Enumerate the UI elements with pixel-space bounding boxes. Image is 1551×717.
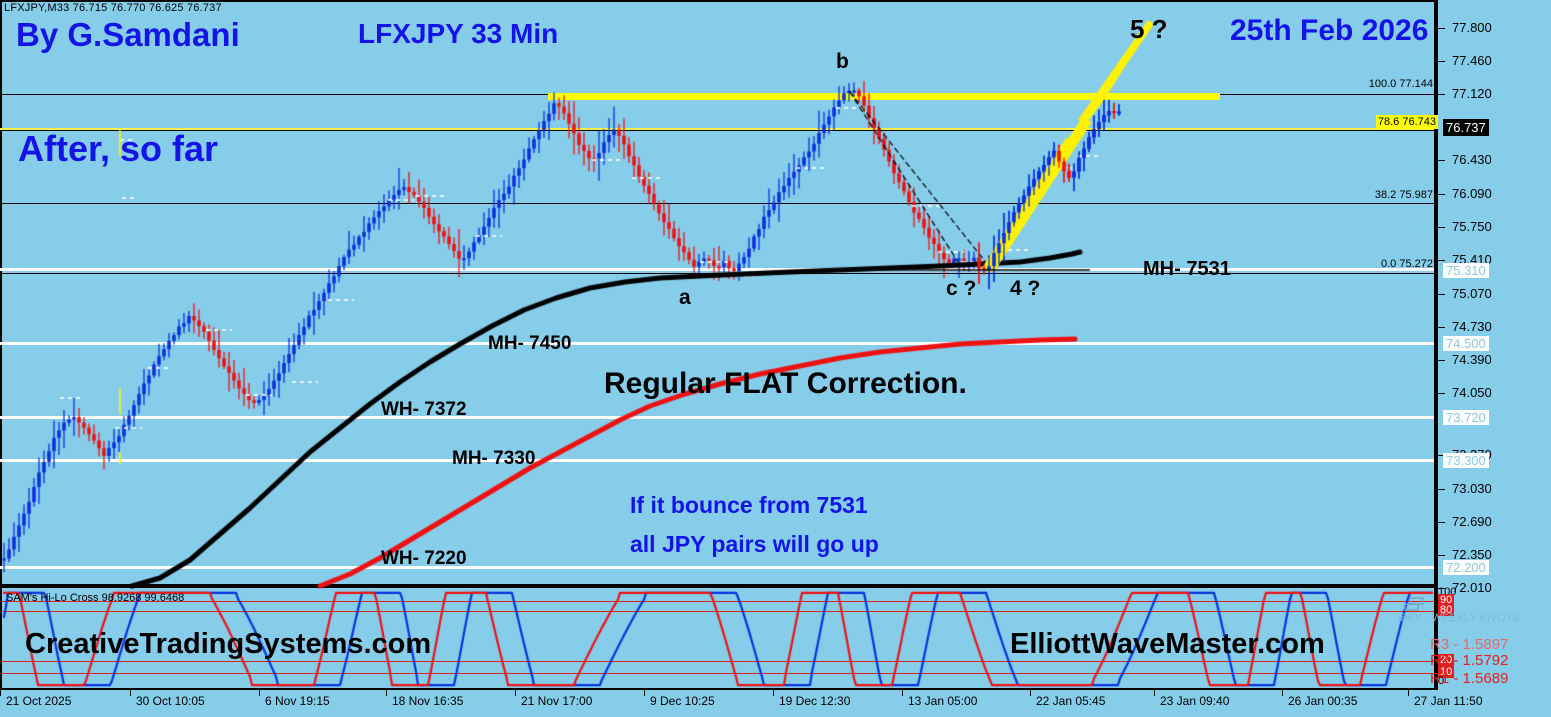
ma-label-7330: MH- 7330 <box>452 448 535 470</box>
wave-label-c: c ? <box>946 277 976 301</box>
trading-chart-window: LFXJPY,M33 76.715 76.770 76.625 76.737 1… <box>0 0 1551 717</box>
pivot-label-r3: R3 - 1.5897 <box>1430 636 1508 653</box>
oscillator-canvas <box>0 0 1551 717</box>
ma-label-7531: MH- 7531 <box>1143 258 1231 281</box>
pivot-watermark: iBFX - WEEKLY PIVOTS <box>1398 612 1520 624</box>
wave-label-a: a <box>679 286 691 310</box>
wave-label-4: 4 ? <box>1010 277 1040 301</box>
pivot-indicator-icon <box>1402 597 1428 613</box>
wave-label-5: 5 ? <box>1130 14 1168 45</box>
pattern-label: Regular FLAT Correction. <box>604 367 967 401</box>
watermark-left: CreativeTradingSystems.com <box>25 628 431 661</box>
ma-label-7220: WH- 7220 <box>381 548 467 570</box>
watermark-right: ElliottWaveMaster.com <box>1010 628 1325 661</box>
oscillator-label: SAM's Hi-Lo Cross 98.9268 99.6468 <box>6 592 184 604</box>
ma-label-7372: WH- 7372 <box>381 399 467 421</box>
pivot-label-r1: R1 - 1.5689 <box>1430 670 1508 687</box>
author-label: By G.Samdani <box>16 16 240 54</box>
wave-label-b: b <box>836 50 849 74</box>
date-label: 25th Feb 2026 <box>1230 14 1428 48</box>
ma-label-7450: MH- 7450 <box>488 333 571 355</box>
bounce-note-line2: all JPY pairs will go up <box>630 531 879 558</box>
after-so-far-label: After, so far <box>18 128 218 170</box>
pivot-label-r2: R2 - 1.5792 <box>1430 652 1508 669</box>
bounce-note-line1: If it bounce from 7531 <box>630 492 868 519</box>
pair-timeframe-label: LFXJPY 33 Min <box>358 18 558 50</box>
